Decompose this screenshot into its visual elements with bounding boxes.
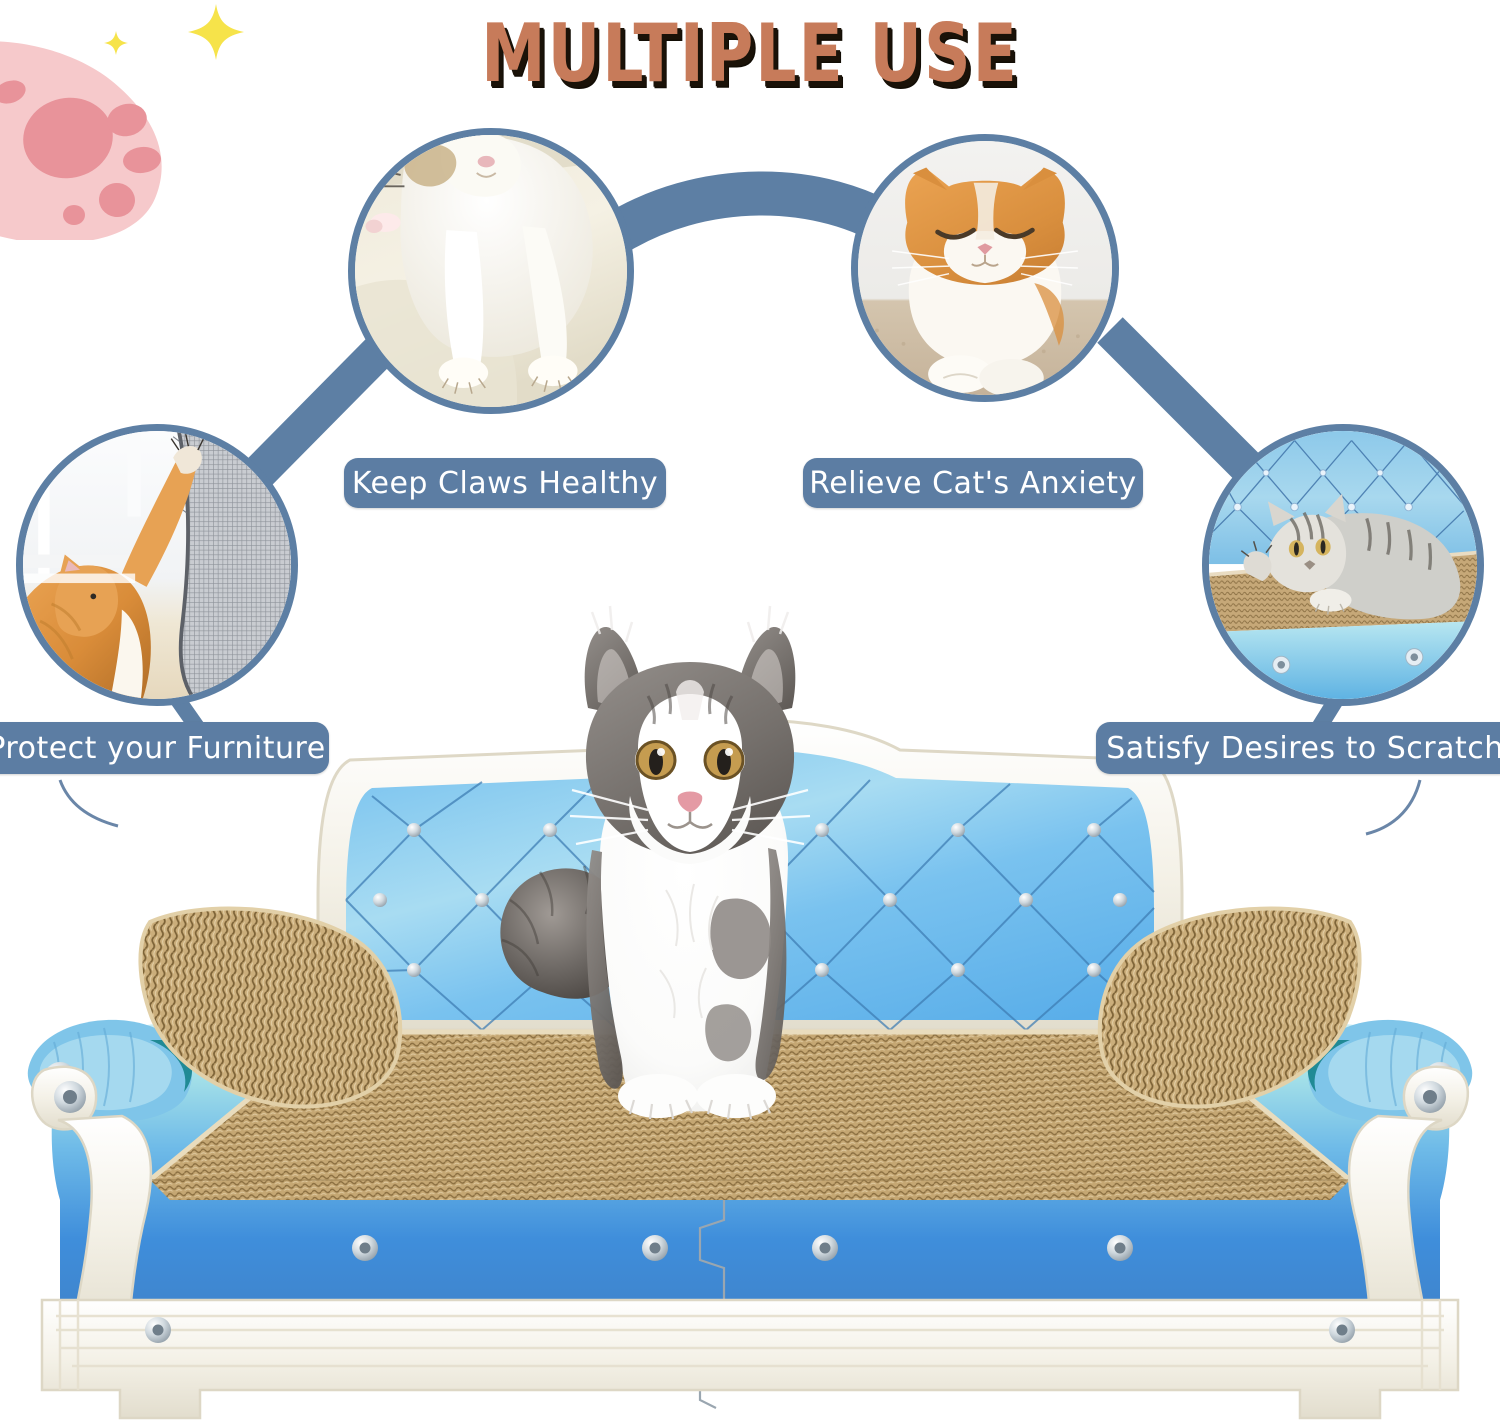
label-text: Relieve Cat's Anxiety <box>809 466 1136 501</box>
feature-photo-relieve-cats-anxiety <box>851 134 1119 402</box>
feature-label-protect-your-furniture: Protect your Furniture <box>0 722 329 774</box>
photo-cat-relaxed <box>858 141 1112 395</box>
photo-cat-stretching <box>355 135 627 407</box>
feature-label-satisfy-desires-to-scratch: Satisfy Desires to Scratch <box>1096 722 1500 774</box>
sofa-base-plinth <box>42 1300 1458 1418</box>
hero-kitten-on-sofa <box>480 600 900 1160</box>
feature-photo-keep-claws-healthy <box>348 128 634 414</box>
label-text: Protect your Furniture <box>0 731 326 766</box>
infographic-canvas: MULTIPLE USE <box>0 0 1500 1420</box>
label-text: Keep Claws Healthy <box>352 466 658 501</box>
feature-label-relieve-cats-anxiety: Relieve Cat's Anxiety <box>803 458 1143 508</box>
feature-label-keep-claws-healthy: Keep Claws Healthy <box>344 458 666 508</box>
label-text: Satisfy Desires to Scratch <box>1106 731 1500 766</box>
